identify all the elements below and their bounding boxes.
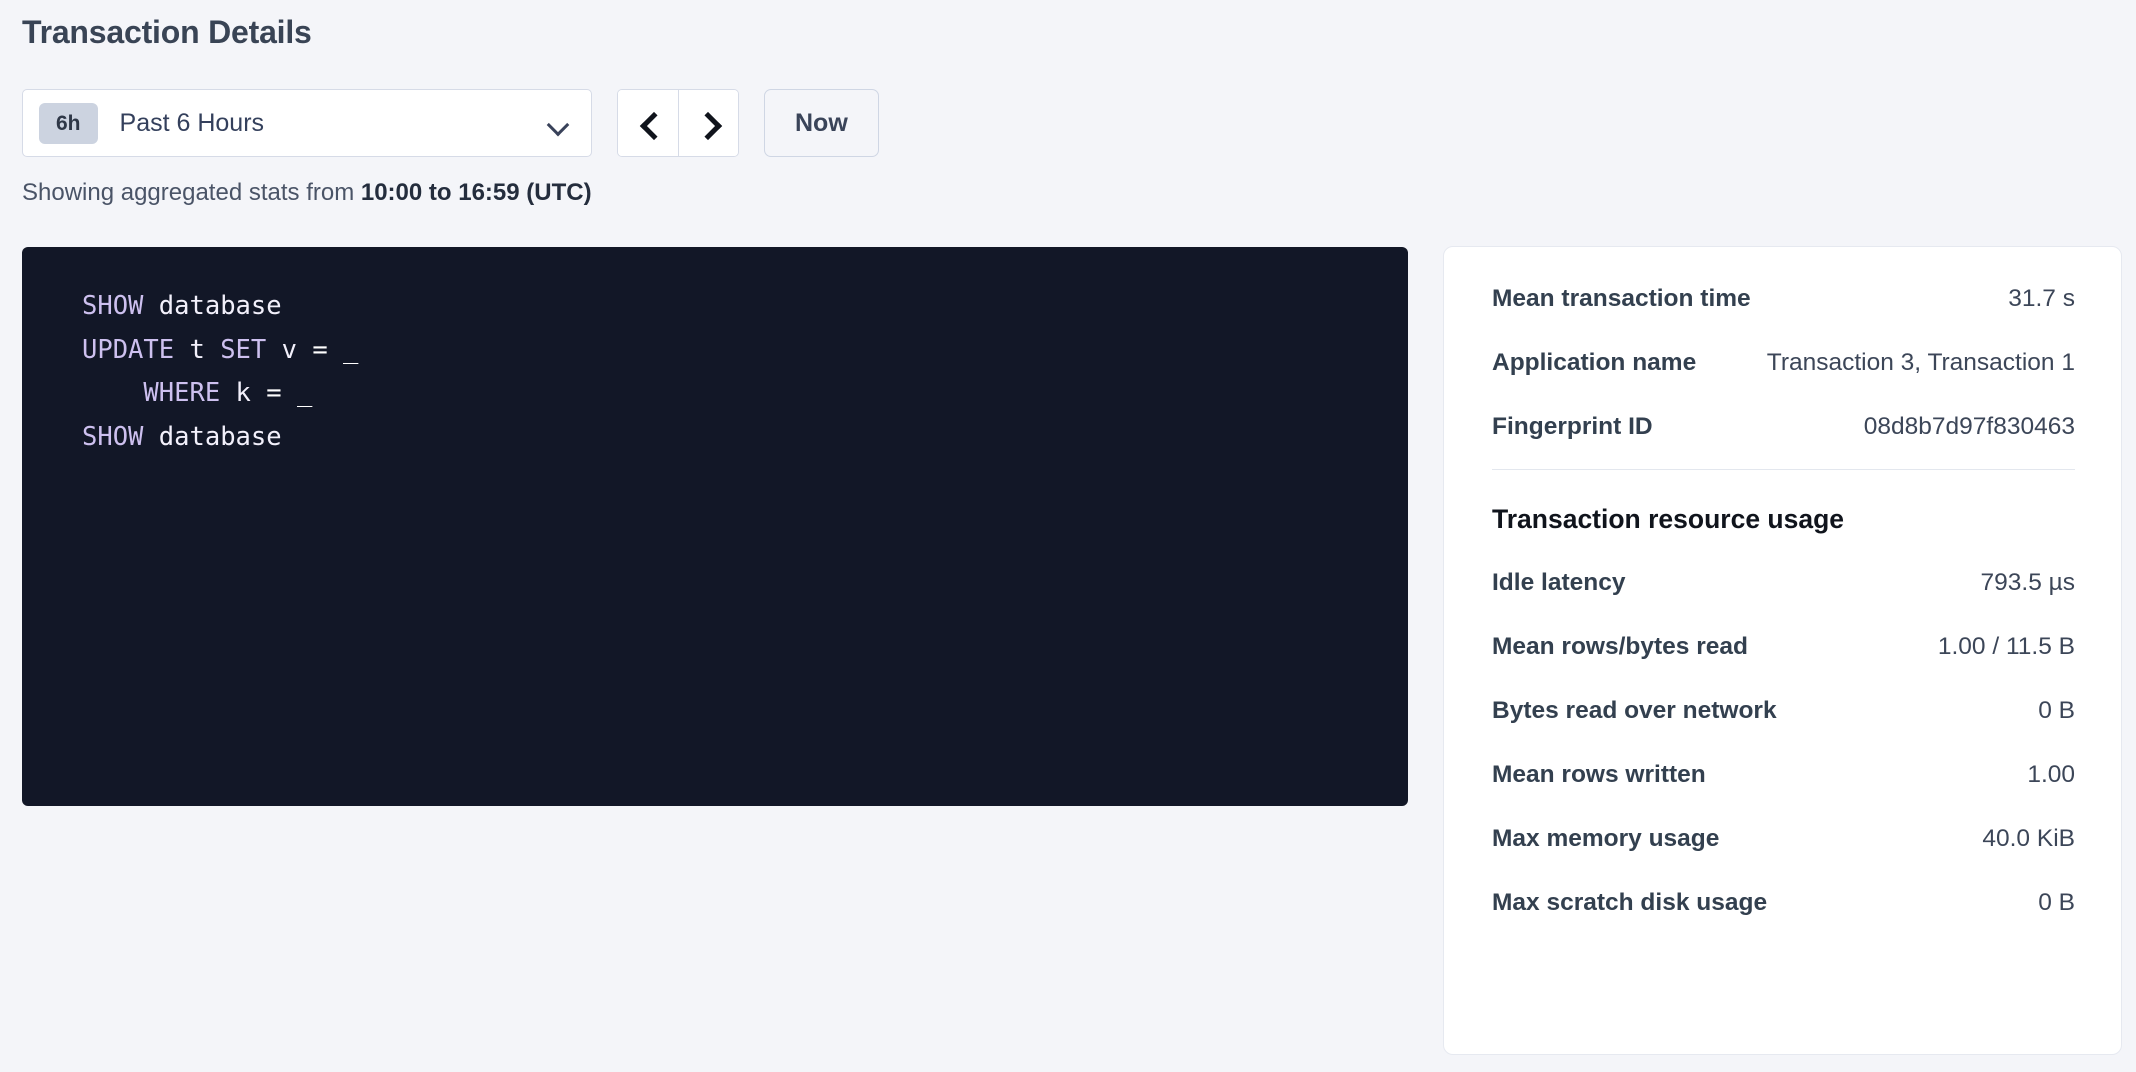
stat-row: Max scratch disk usage0 B — [1492, 889, 2075, 917]
stat-row: Fingerprint ID08d8b7d97f830463 — [1492, 413, 2075, 441]
transaction-details-page: Transaction Details 6h Past 6 Hours Now … — [0, 0, 2136, 1072]
code-line: SHOW database — [82, 416, 1408, 460]
code-line: SHOW database — [82, 285, 1408, 329]
sql-keyword: UPDATE — [82, 335, 174, 365]
aggregation-note: Showing aggregated stats from 10:00 to 1… — [22, 179, 592, 207]
stat-row: Bytes read over network0 B — [1492, 697, 2075, 725]
stat-value: 0 B — [2038, 697, 2075, 725]
range-nav-group — [617, 89, 739, 157]
stat-label: Mean rows written — [1492, 761, 1706, 789]
sql-operator — [143, 422, 158, 452]
stat-value: 31.7 s — [2008, 285, 2075, 313]
panel-divider — [1492, 469, 2075, 470]
next-range-button[interactable] — [678, 90, 738, 156]
stat-row: Max memory usage40.0 KiB — [1492, 825, 2075, 853]
code-line: UPDATE t SET v = _ — [82, 329, 1408, 373]
stat-label: Bytes read over network — [1492, 697, 1777, 725]
stat-label: Max scratch disk usage — [1492, 889, 1767, 917]
stat-label: Mean rows/bytes read — [1492, 633, 1748, 661]
time-range-label: Past 6 Hours — [120, 109, 548, 138]
time-range-badge: 6h — [39, 103, 98, 144]
sql-operator — [82, 378, 143, 408]
stat-label: Fingerprint ID — [1492, 413, 1653, 441]
sql-identifier: database — [159, 422, 282, 452]
stat-value: Transaction 3, Transaction 1 — [1767, 349, 2075, 377]
sql-operator — [266, 335, 281, 365]
stat-value: 793.5 µs — [1981, 569, 2075, 597]
stat-label: Application name — [1492, 349, 1696, 377]
sql-operator — [220, 378, 235, 408]
sql-keyword: WHERE — [143, 378, 220, 408]
stat-value: 1.00 — [2027, 761, 2075, 789]
code-line: WHERE k = _ — [82, 372, 1408, 416]
sql-keyword: SHOW — [82, 291, 143, 321]
aggregation-note-range: 10:00 to 16:59 (UTC) — [361, 179, 592, 206]
sql-operator: = _ — [251, 378, 312, 408]
stat-value: 08d8b7d97f830463 — [1864, 413, 2075, 441]
transaction-stats-panel: Mean transaction time31.7 sApplication n… — [1443, 246, 2122, 1055]
chevron-right-icon — [700, 115, 717, 132]
stat-row: Mean rows written1.00 — [1492, 761, 2075, 789]
sql-identifier: k — [236, 378, 251, 408]
chevron-left-icon — [640, 115, 657, 132]
sql-identifier: t — [189, 335, 204, 365]
sql-operator — [174, 335, 189, 365]
stat-row: Mean rows/bytes read1.00 / 11.5 B — [1492, 633, 2075, 661]
time-range-toolbar: 6h Past 6 Hours Now — [22, 89, 879, 157]
time-range-select[interactable]: 6h Past 6 Hours — [22, 89, 592, 157]
stat-row: Mean transaction time31.7 s — [1492, 285, 2075, 313]
resource-stat-list: Idle latency793.5 µsMean rows/bytes read… — [1492, 569, 2075, 917]
overview-stat-list: Mean transaction time31.7 sApplication n… — [1492, 285, 2075, 441]
stat-value: 40.0 KiB — [1982, 825, 2075, 853]
stat-value: 1.00 / 11.5 B — [1938, 633, 2075, 661]
sql-code-block[interactable]: SHOW databaseUPDATE t SET v = _ WHERE k … — [22, 247, 1408, 806]
stat-label: Max memory usage — [1492, 825, 1719, 853]
sql-keyword: SHOW — [82, 422, 143, 452]
sql-keyword: SET — [220, 335, 266, 365]
stat-row: Application nameTransaction 3, Transacti… — [1492, 349, 2075, 377]
stat-row: Idle latency793.5 µs — [1492, 569, 2075, 597]
previous-range-button[interactable] — [618, 90, 678, 156]
page-title: Transaction Details — [22, 14, 312, 51]
sql-operator — [205, 335, 220, 365]
now-button[interactable]: Now — [764, 89, 879, 157]
chevron-down-icon — [548, 117, 569, 129]
stat-label: Mean transaction time — [1492, 285, 1751, 313]
sql-operator — [143, 291, 158, 321]
resource-usage-title: Transaction resource usage — [1492, 504, 2075, 535]
stat-label: Idle latency — [1492, 569, 1625, 597]
sql-operator: = _ — [297, 335, 358, 365]
sql-identifier: database — [159, 291, 282, 321]
stat-value: 0 B — [2038, 889, 2075, 917]
aggregation-note-prefix: Showing aggregated stats from — [22, 179, 361, 206]
sql-identifier: v — [282, 335, 297, 365]
